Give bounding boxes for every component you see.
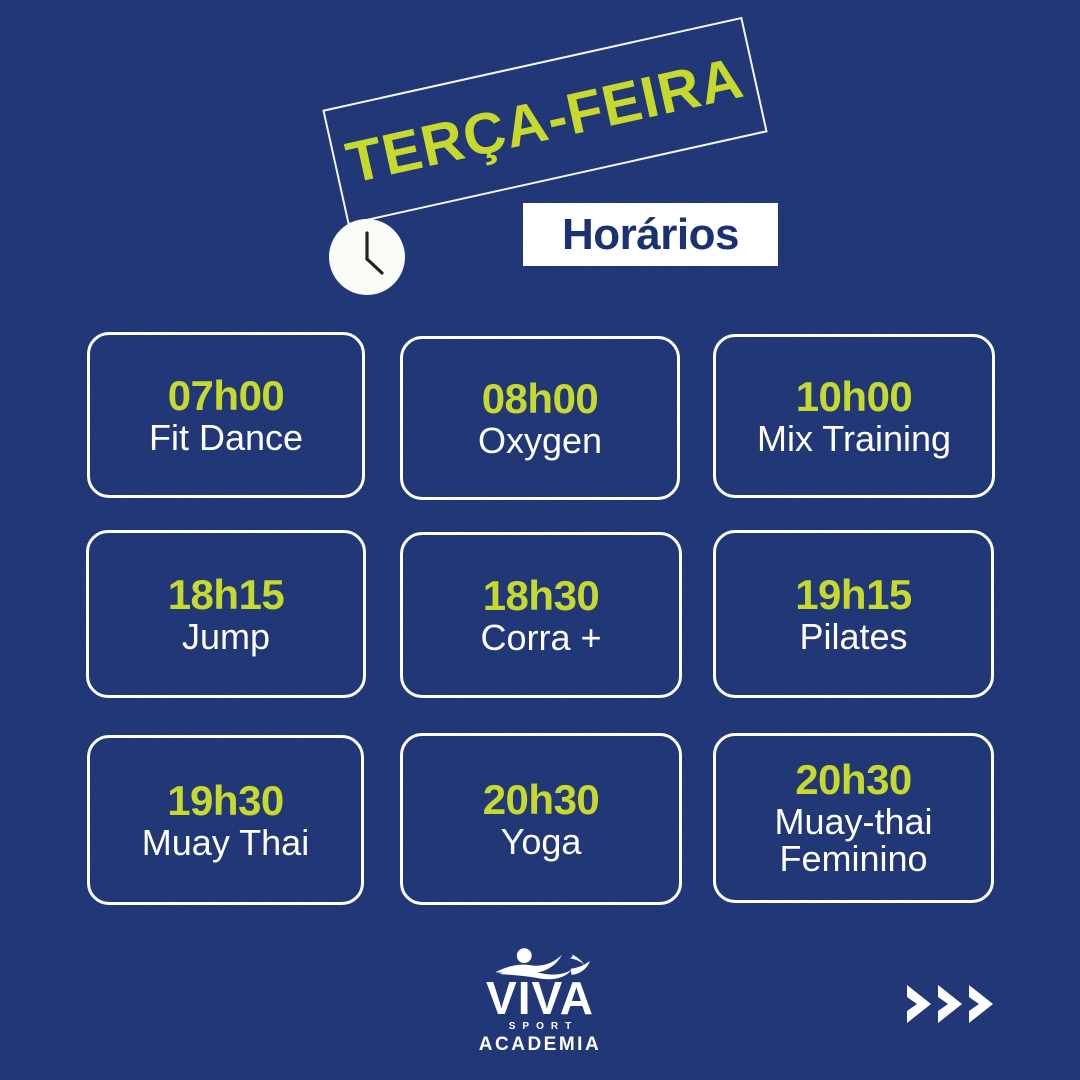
logo-subtitle: ACADEMIA	[479, 1034, 601, 1056]
card-time: 10h00	[796, 375, 913, 419]
card-class: Fit Dance	[149, 420, 303, 457]
schedule-grid: 07h00 Fit Dance 08h00 Oxygen 10h00 Mix T…	[0, 0, 1080, 1080]
logo-tagline: SPORT	[509, 1021, 578, 1032]
card-class: Pilates	[799, 619, 907, 656]
card-time: 19h30	[167, 779, 284, 823]
schedule-card[interactable]: 19h15 Pilates	[713, 530, 994, 698]
card-class: Corra +	[480, 620, 601, 657]
card-time: 07h00	[168, 374, 285, 418]
logo-brand: VIVA	[486, 980, 594, 1018]
schedule-card[interactable]: 20h30 Yoga	[400, 733, 682, 905]
card-time: 18h30	[483, 574, 600, 618]
card-time: 08h00	[482, 377, 599, 421]
schedule-card[interactable]: 10h00 Mix Training	[713, 334, 995, 498]
viva-sport-academia-logo: VIVA SPORT ACADEMIA	[455, 946, 625, 1056]
schedule-card[interactable]: 08h00 Oxygen	[400, 336, 680, 500]
card-class: Oxygen	[478, 423, 602, 460]
card-time: 19h15	[795, 573, 912, 617]
card-class: Mix Training	[757, 421, 951, 458]
card-time: 20h30	[795, 758, 912, 802]
card-time: 20h30	[483, 778, 600, 822]
schedule-card[interactable]: 07h00 Fit Dance	[87, 332, 365, 498]
schedule-card[interactable]: 18h15 Jump	[86, 530, 366, 698]
card-class: Jump	[182, 619, 270, 656]
card-class: Muay-thai Feminino	[774, 804, 932, 877]
card-class: Yoga	[501, 824, 582, 861]
triple-chevron-right-icon	[905, 981, 1000, 1027]
schedule-card[interactable]: 18h30 Corra +	[400, 532, 682, 698]
card-class: Muay Thai	[142, 825, 309, 862]
schedule-card[interactable]: 19h30 Muay Thai	[87, 735, 364, 905]
card-time: 18h15	[168, 573, 285, 617]
schedule-card[interactable]: 20h30 Muay-thai Feminino	[713, 733, 994, 903]
